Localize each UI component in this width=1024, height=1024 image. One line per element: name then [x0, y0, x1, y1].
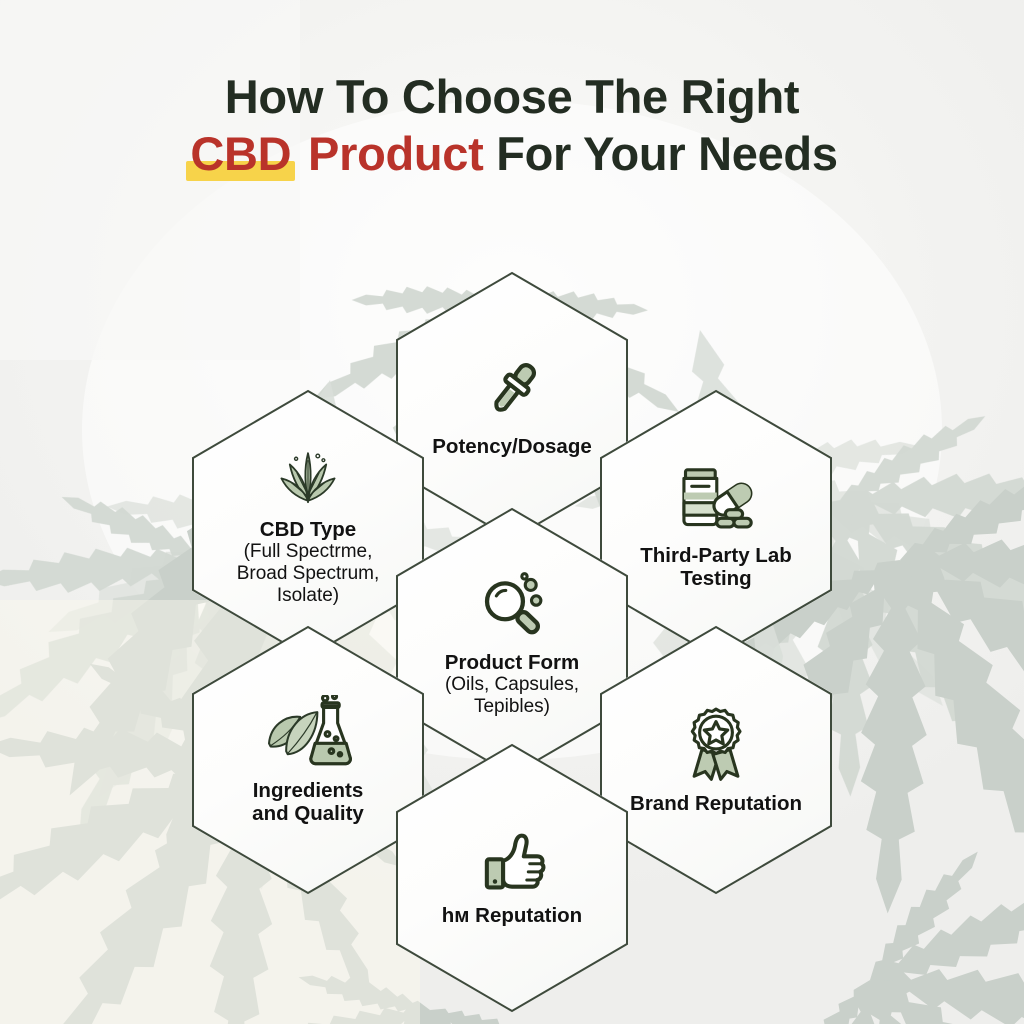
hex-title: and Quality — [252, 802, 364, 825]
hex-title: Ingredients — [252, 779, 364, 802]
hex-subtitle-line: Tepibles) — [445, 696, 579, 718]
hex-title: hᴍ Reputation — [442, 904, 582, 927]
hex-cell-potency-dosage[interactable]: Potency/Dosage — [396, 272, 628, 540]
cbd-highlight: CBD — [186, 125, 295, 182]
hex-label-third-party-lab-testing: Third-Party Lab Testing — [640, 544, 792, 591]
hex-title: Testing — [640, 567, 792, 590]
hex-cell-user-reputation[interactable]: hᴍ Reputation — [396, 744, 628, 1012]
hex-label-cbd-type: CBD Type (Full Spectrme, Broad Spectrum,… — [237, 518, 380, 606]
hex-cell-third-party-lab-testing[interactable]: Third-Party Lab Testing — [600, 390, 832, 658]
poster-heading: How To Choose The Right CBD Product For … — [0, 68, 1024, 183]
hex-label-ingredients-and-quality: Ingredients and Quality — [252, 779, 364, 826]
hex-subtitle-line: (Full Spectrme, — [237, 541, 380, 563]
hex-label-potency-dosage: Potency/Dosage — [432, 435, 592, 458]
hex-title: Potency/Dosage — [432, 435, 592, 458]
hex-title: CBD Type — [237, 518, 380, 541]
hex-cell-ingredients-and-quality[interactable]: Ingredients and Quality — [192, 626, 424, 894]
title-line-2: CBD Product For Your Needs — [0, 125, 1024, 182]
title-line-2-rest: For Your Needs — [483, 127, 837, 180]
infographic-poster: How To Choose The Right CBD Product For … — [0, 0, 1024, 1024]
hex-cell-product-form[interactable]: Product Form (Oils, Capsules, Tepibles) — [396, 508, 628, 776]
hex-cell-cbd-type[interactable]: CBD Type (Full Spectrme, Broad Spectrum,… — [192, 390, 424, 658]
hex-label-user-reputation: hᴍ Reputation — [442, 904, 582, 927]
cannabis-leaf-icon — [273, 442, 343, 512]
hex-title: Product Form — [445, 651, 579, 674]
magnifier-icon — [472, 567, 552, 645]
award-ribbon-icon — [677, 704, 755, 786]
title-line-1-text: How To Choose The Right — [225, 70, 799, 123]
dropper-icon — [474, 353, 550, 429]
hex-subtitle-line: Isolate) — [237, 585, 380, 607]
hex-title: Third-Party Lab — [640, 544, 792, 567]
thumbs-up-icon — [475, 828, 549, 898]
title-line-1: How To Choose The Right — [0, 68, 1024, 125]
hex-subtitle-line: Broad Spectrum, — [237, 563, 380, 585]
pill-bottle-icon — [673, 458, 759, 538]
product-word: Product — [295, 127, 483, 180]
hex-label-brand-reputation: Brand Reputation — [630, 792, 802, 815]
hex-cell-brand-reputation[interactable]: Brand Reputation — [600, 626, 832, 894]
hex-title: Brand Reputation — [630, 792, 802, 815]
leaf-flask-icon — [262, 695, 354, 773]
hex-subtitle-line: (Oils, Capsules, — [445, 674, 579, 696]
hex-label-product-form: Product Form (Oils, Capsules, Tepibles) — [445, 651, 579, 718]
cbd-word: CBD — [190, 127, 291, 180]
